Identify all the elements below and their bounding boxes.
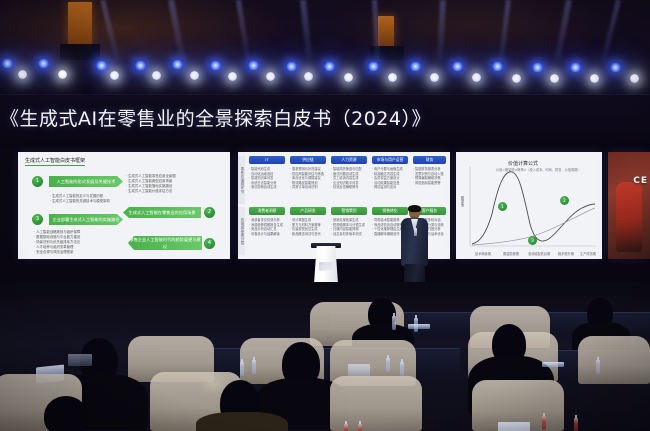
matrix-header-campaign: 营销策划: [331, 207, 367, 215]
stage-light-white: [472, 73, 481, 82]
stage-light-blue: [172, 60, 183, 69]
step-bullets-1: · 生成式人工智能的定义与发展历程 · 生成式人工智能的关键技术与模型架构: [50, 194, 126, 204]
stage-light-blue: [135, 61, 146, 70]
stage-light-blue: [492, 62, 503, 71]
step-number-1: 1: [32, 176, 43, 187]
step-number-3: 3: [32, 214, 43, 225]
chart-marker-3: 3: [528, 236, 537, 245]
water-bottle: [542, 416, 546, 430]
stage-light-white: [190, 71, 199, 80]
audience-head: [44, 396, 88, 431]
chart-marker-1: 1: [498, 202, 507, 211]
matrix-cell: · 智能代码生成 · 自动化运维巡检 · 智能知识库问答 · 系统日志智能分析 …: [249, 167, 287, 190]
stage-light-blue: [286, 62, 297, 71]
conference-stage-scene: 《生成式AI在零售业的全景探索白皮书（2024）》 生成式人工智能白皮书框架 1…: [0, 0, 650, 431]
matrix-side-label-2: 应用成熟度分层: [238, 207, 245, 255]
chart-x-tick: 稳步爬升期: [554, 251, 578, 256]
step-label-2: 生成式人工智能在零售业的应用场景: [123, 207, 201, 218]
water-bottle: [386, 358, 390, 372]
stage-light-white: [266, 72, 275, 81]
water-bottle: [252, 360, 256, 374]
stage-light-white: [18, 70, 27, 79]
water-bottle: [240, 362, 244, 376]
audience-shoulders: [196, 412, 288, 431]
speaker: [400, 206, 428, 291]
step-bullets-3: · 人工智能战略规划与组织保障 · 数据基础设施与平台能力建设 · 场景识别与优…: [34, 230, 118, 255]
stage-light-blue: [38, 59, 49, 68]
stage-light-blue: [248, 61, 259, 70]
chart-x-tick: 泡沫破裂低谷期: [524, 251, 554, 256]
stage-light-white: [630, 74, 639, 83]
stage-light-blue: [96, 61, 107, 70]
step-number-4: 4: [204, 238, 215, 249]
matrix-header-supply: 供应链: [290, 156, 326, 164]
stage-light-white: [110, 71, 119, 80]
far-panel-figure: [616, 182, 642, 252]
stage-light-white: [344, 73, 353, 82]
audience-chair: [330, 376, 422, 431]
table-card: [498, 422, 530, 431]
audience-area: [0, 296, 650, 431]
laptop: [408, 324, 430, 329]
stage-light-white: [228, 72, 237, 81]
chart-marker-2: 2: [560, 196, 569, 205]
matrix-cell: · 用户分群与画像生成 · 精准触达内容生成 · 会员权益方案设计 · 活动效果…: [372, 167, 410, 190]
slide-panel-far-right: CE: [608, 152, 650, 259]
stage-light-blue: [610, 63, 621, 72]
stage-light-blue: [452, 62, 463, 71]
stage-light-white: [590, 74, 599, 83]
matrix-header-it: IT: [249, 156, 285, 164]
water-bottle: [392, 316, 396, 330]
stage-light-white: [512, 74, 521, 83]
microphone: [414, 228, 417, 236]
audience-chair: [578, 336, 650, 384]
chart-x-tick: 期望膨胀期: [498, 251, 524, 256]
stage-light-blue: [570, 63, 581, 72]
stage-light-white: [430, 73, 439, 82]
step-bullets-2: · 生成式人工智能零售应用全景图 · 生成式人工智能典型应用场景 · 生成式人工…: [126, 174, 198, 194]
stage-light-white: [304, 72, 313, 81]
water-bottle: [400, 362, 404, 376]
step-label-4: 零售企业人工智能时代的趋势展望与建议: [128, 236, 202, 250]
stage-light-blue: [368, 62, 379, 71]
matrix-side-label-1: 零售价值链环节: [238, 156, 245, 204]
far-panel-banner-text: CE: [633, 176, 648, 186]
slide-panel-left: 生成式人工智能白皮书框架 1 人工智能的形式发展及关键技术 · 生成式人工智能的…: [18, 152, 230, 259]
stage-light-blue: [2, 59, 13, 68]
step-number-2: 2: [204, 207, 215, 218]
water-bottle: [574, 418, 578, 431]
matrix-cell: · 需求预测与补货建议 · 供应商智能评估与筛选 · 库存优化与调拨建议 · 物…: [290, 167, 328, 190]
stage-light-white: [388, 73, 397, 82]
stage-light-blue: [410, 62, 421, 71]
matrix-cell: · 智能简历筛选与匹配 · 面试问题自动生成 · 员工培训内容生成 · 企业知识…: [331, 167, 369, 190]
stage-light-white: [152, 71, 161, 80]
matrix-cell: · 营销文案批量生成 · 短视频脚本与分镜生成 · 社媒内容智能排期 · 创意素…: [331, 218, 369, 236]
water-bottle: [358, 424, 362, 431]
orange-rig-fixture-right: [378, 16, 394, 46]
matrix-cell: · 设计草图生成 · 配方与材料方案推荐 · 包装视觉创意生成 · 新品概念测试…: [290, 218, 328, 236]
step-label-1: 人工智能的形式发展及关键技术: [49, 176, 123, 187]
laptop: [542, 362, 564, 367]
stage-light-white: [550, 74, 559, 83]
orange-rig-fixture-left: [68, 2, 92, 44]
matrix-cell: · 智能财务报表分析 · 发票识别与自动入账 · 预算编制辅助决策 · 风险指标…: [413, 167, 448, 185]
matrix-header-hr: 人力资源: [331, 156, 367, 164]
stage-light-blue: [210, 61, 221, 70]
chart-x-tick: 技术萌芽期: [470, 251, 496, 256]
speaker-hair: [408, 205, 421, 212]
podium-logo: [319, 262, 333, 271]
slide-panel-right: 价值计算公式 价值=期望值×概率×（投入成本、时间、财务、价值周期） 期望值 1…: [456, 152, 602, 259]
stage-light-white: [58, 70, 67, 79]
page-title: 《生成式AI在零售业的全景探索白皮书（2024）》: [0, 104, 420, 131]
matrix-header-consumer: 消费者洞察: [249, 207, 285, 215]
chart-x-tick: 生产成熟期: [576, 251, 600, 256]
water-bottle: [596, 360, 600, 374]
matrix-cell: · 消费者评论情感分析 · 消费趋势洞察报告生成 · 竞品分析自动汇总 · 问卷…: [249, 218, 287, 236]
stage-light-blue: [532, 63, 543, 72]
water-bottle: [344, 424, 348, 431]
stage-light-blue: [324, 62, 335, 71]
matrix-header-marketing: 市场与用户运营: [372, 156, 408, 164]
step-label-3: 企业部署生成式人工智能的实施路径: [49, 214, 123, 225]
matrix-header-product: 产品研发: [290, 207, 326, 215]
laptop: [68, 354, 92, 366]
matrix-header-finance: 财务: [413, 156, 446, 164]
left-panel-title: 生成式人工智能白皮书框架: [25, 157, 85, 166]
